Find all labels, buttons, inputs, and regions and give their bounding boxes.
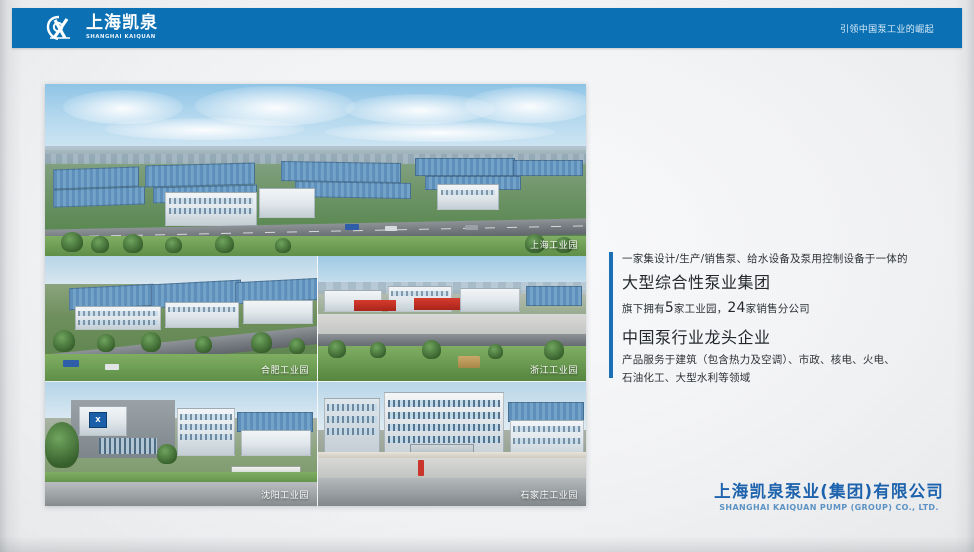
cloud-shape [325,122,555,142]
vehicle [465,225,478,230]
window-band [327,404,377,411]
landscape-feature [458,356,480,368]
office-building [460,288,520,312]
tree [289,338,305,354]
red-banner-sign [354,300,396,311]
vehicle [105,364,119,370]
page-header: 上海凯泉 SHANGHAI KAIQUAN 引领中国泵工业的崛起 [12,8,962,48]
photo-shijiazhuang-industrial-park[interactable]: 石家庄工业园 [318,382,586,506]
company-description-block: 一家集设计/生产/销售泵、给水设备及泵用控制设备于一体的 大型综合性泵业集团 旗… [609,252,929,387]
stat-branch-count: 24 [727,300,745,316]
factory-roof [145,163,255,188]
tree [45,422,79,468]
window-band [169,208,253,214]
tree [275,238,291,253]
tree [195,336,212,353]
cloud-shape [105,118,305,140]
window-band [388,436,500,443]
office-building [241,430,311,456]
window-band [327,428,377,435]
tree [251,332,272,353]
tree [165,237,182,253]
accent-bar [609,252,613,378]
photo-caption: 上海工业园 [530,238,578,251]
detail-line-1: 产品服务于建筑（包含热力及空调）、市政、核电、火电、 [622,353,929,369]
brand-logo-cn: 上海凯泉 [86,15,158,32]
brand-logo[interactable]: 上海凯泉 SHANGHAI KAIQUAN [46,14,158,42]
tree [422,340,441,359]
stat-park-count: 5 [665,300,674,316]
red-banner-sign [414,298,460,310]
office-building [259,188,315,218]
window-band [441,190,495,195]
tree [370,342,386,358]
tree [488,344,503,359]
window-band [168,307,236,312]
window-band [78,320,158,325]
factory-roof [526,286,582,306]
header-slogan: 引领中国泵工业的崛起 [840,22,934,35]
headline-group-type: 大型综合性泵业集团 [622,271,929,294]
photo-caption: 浙江工业园 [530,363,578,376]
window-band [180,434,232,440]
window-band [180,424,232,430]
stat-line: 旗下拥有5家工业园，24家销售分公司 [622,298,929,319]
vehicle [345,224,359,230]
tree [61,232,83,252]
tree [97,334,115,352]
footer-brand-en: SHANGHAI KAIQUAN PUMP (GROUP) CO., LTD. [714,504,944,512]
industrial-park-photo-collage: 上海工业园 合肥工业园 [45,84,586,506]
factory-roof [53,186,145,207]
person-figure [418,460,424,476]
intro-line: 一家集设计/生产/销售泵、给水设备及泵用控制设备于一体的 [622,252,929,268]
factory-roof [415,158,515,176]
footer-brand-cn: 上海凯泉泵业(集团)有限公司 [714,484,944,501]
photo-caption: 沈阳工业园 [261,488,309,501]
plaza-pavement [318,458,586,480]
window-band [169,198,253,204]
stat-prefix: 旗下拥有 [622,303,665,315]
photo-shanghai-industrial-park[interactable]: 上海工业园 [45,84,586,256]
photo-hefei-industrial-park[interactable]: 合肥工业园 [45,256,317,381]
office-building [243,300,313,324]
photo-caption: 石家庄工业园 [520,488,578,501]
cloud-shape [465,87,586,123]
tree [91,236,109,253]
window-band [78,311,158,316]
window-band [513,426,581,432]
window-band [388,424,500,431]
brand-logo-text: 上海凯泉 SHANGHAI KAIQUAN [86,15,158,40]
window-band [391,291,449,296]
tree [215,235,234,253]
factory-roof [281,161,401,183]
factory-roof [508,402,584,422]
window-band [327,416,377,423]
stat-suffix: 家销售分公司 [746,303,810,315]
photo-caption: 合肥工业园 [261,363,309,376]
photo-shenyang-industrial-park[interactable]: X 沈阳工业园 [45,382,317,506]
window-band [513,438,581,444]
vehicle [63,360,79,367]
photo-zhejiang-industrial-park[interactable]: 浙江工业园 [318,256,586,381]
vehicle [385,226,397,231]
office-building [75,306,161,330]
tree [328,340,346,358]
entrance-glass [99,438,157,454]
tree [157,444,177,464]
headline-industry-leader: 中国泵行业龙头企业 [622,326,929,349]
brand-logo-en: SHANGHAI KAIQUAN [86,35,159,40]
tree [544,340,564,360]
window-band [388,400,500,407]
stat-mid: 家工业园， [674,303,728,315]
detail-line-2: 石油化工、大型水利等领域 [622,371,929,387]
slide-root: 上海凯泉 SHANGHAI KAIQUAN 引领中国泵工业的崛起 [0,0,974,552]
office-building [437,184,499,210]
kaiquan-mark-icon [46,14,80,42]
office-building [165,302,239,328]
footer-brand: 上海凯泉泵业(集团)有限公司 SHANGHAI KAIQUAN PUMP (GR… [714,484,944,513]
tree [141,332,161,352]
window-band [180,414,232,420]
tree [53,330,75,352]
window-band [388,412,500,419]
factory-roof [237,412,313,432]
tree [123,234,143,253]
factory-roof [513,160,583,176]
kaiquan-building-logo-icon: X [89,412,107,428]
